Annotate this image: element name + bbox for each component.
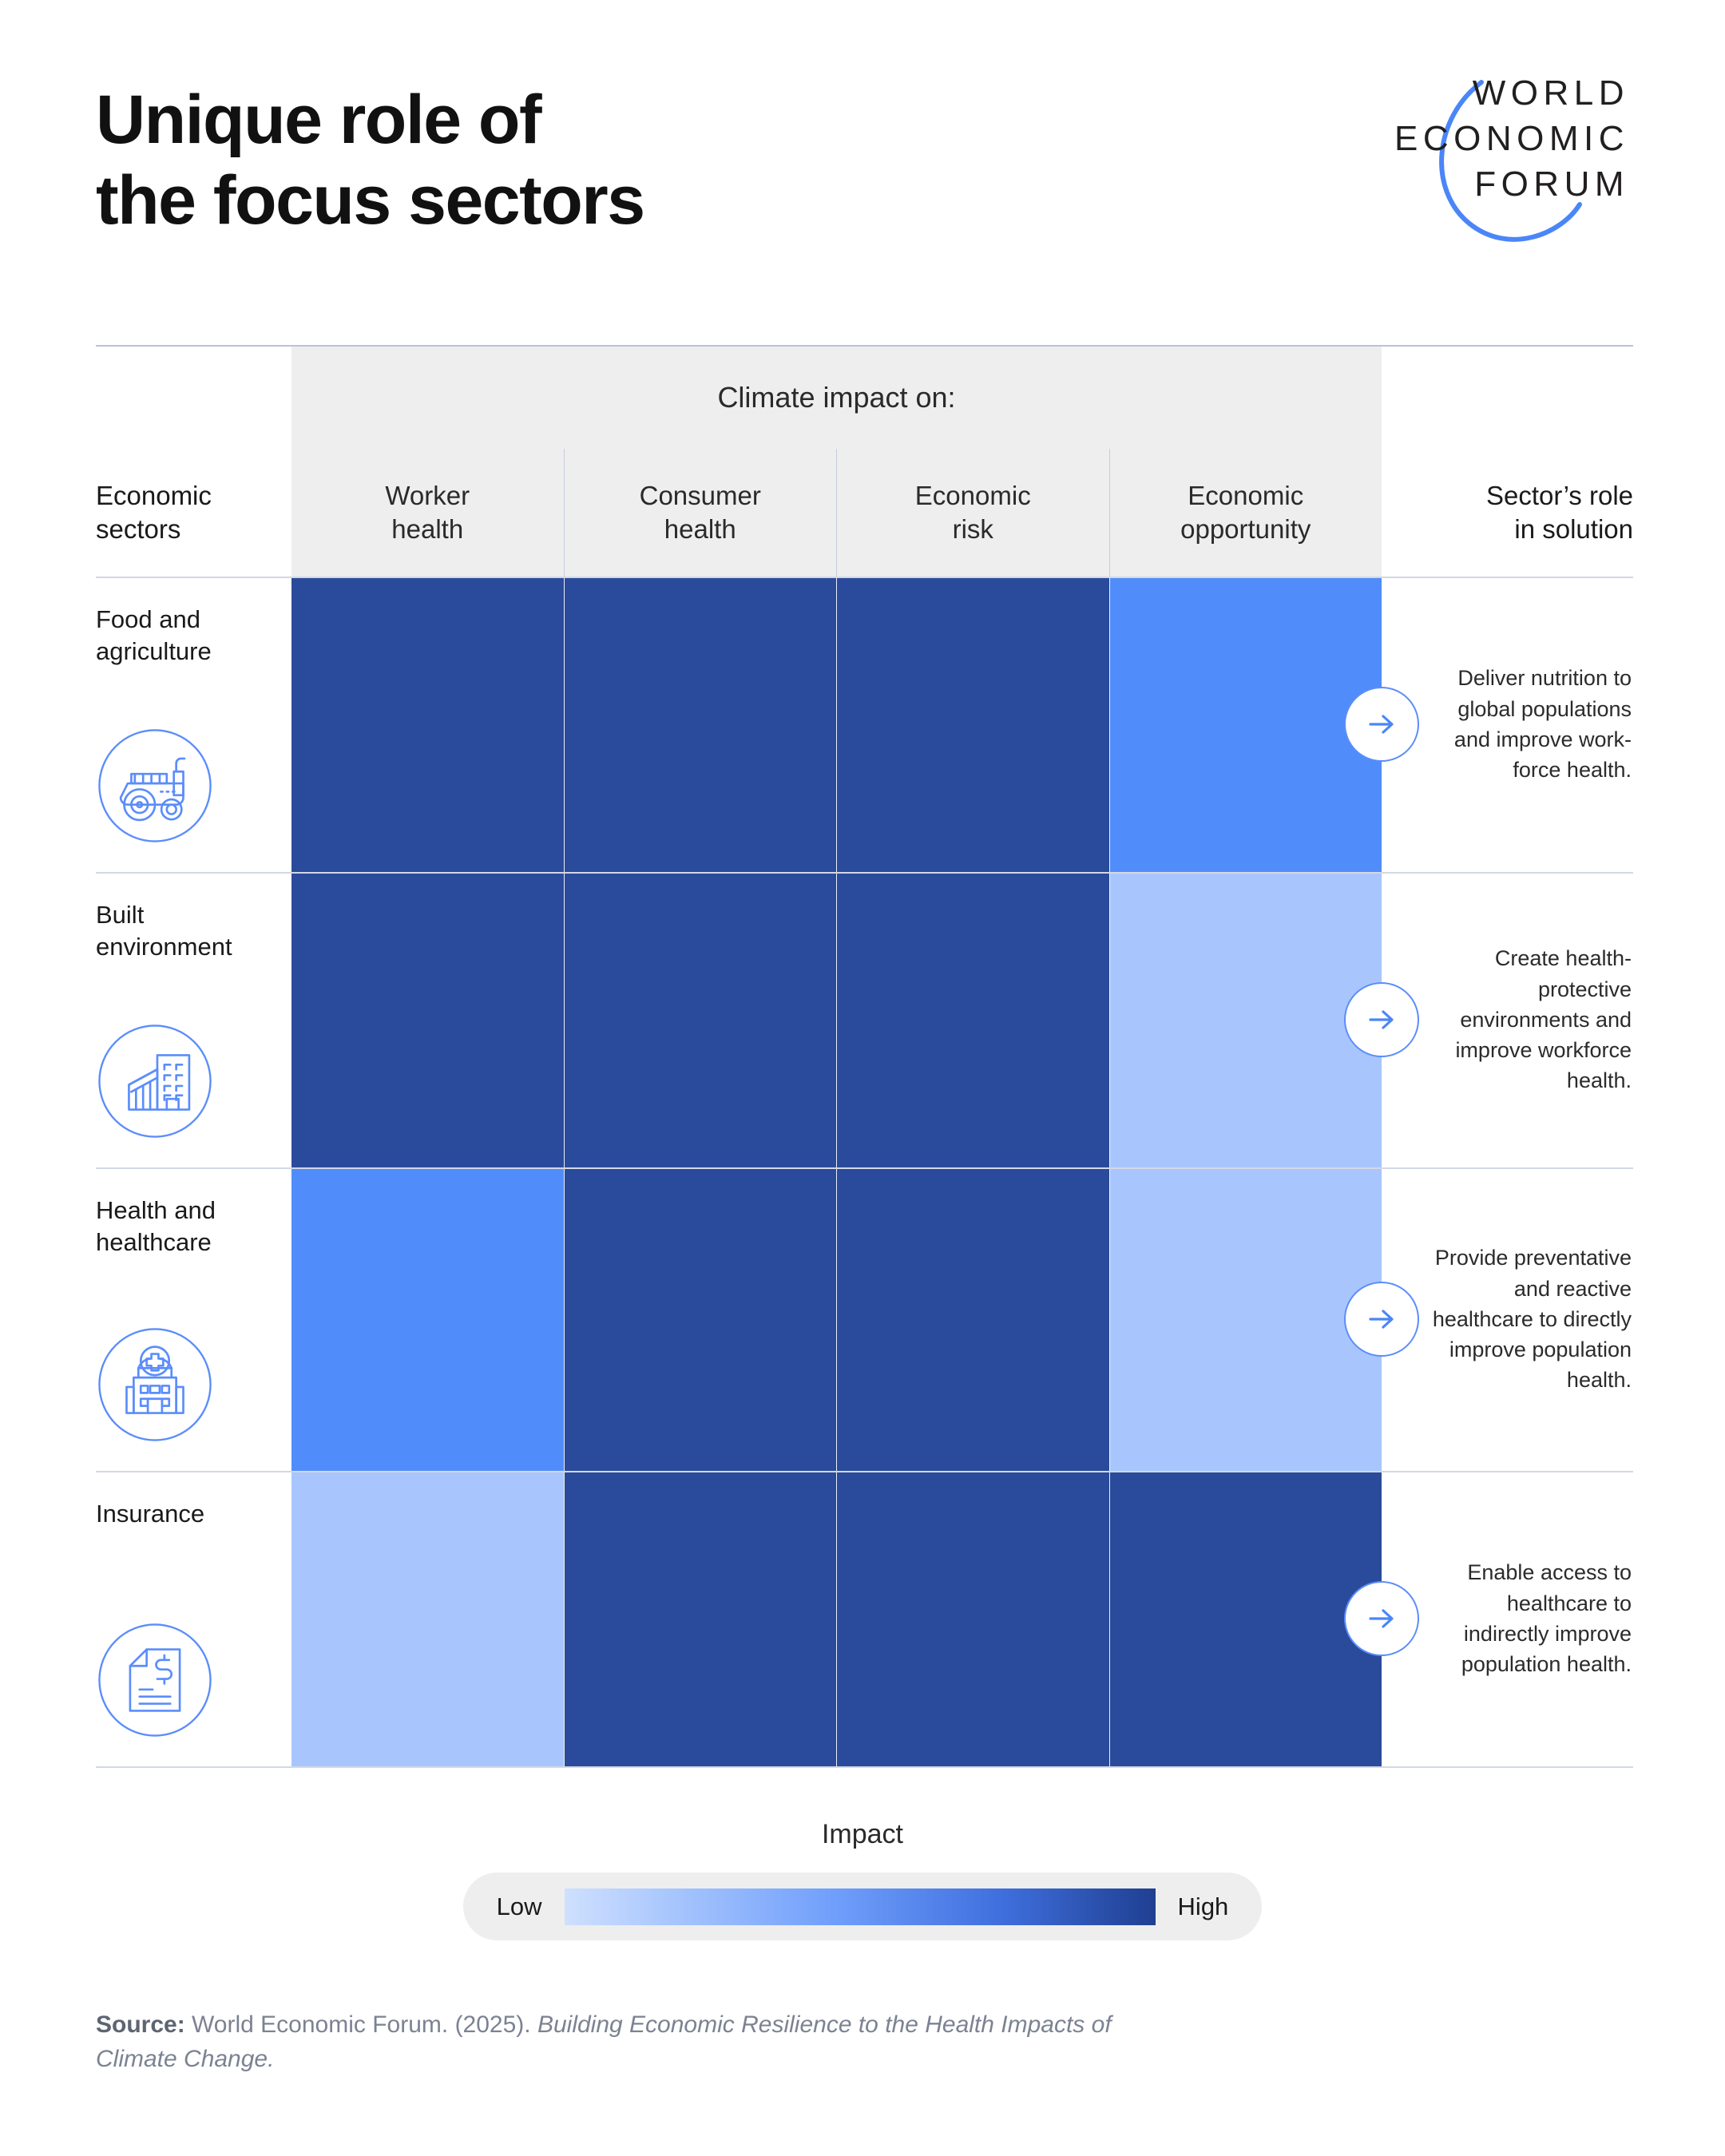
group-header-climate-impact: Climate impact on: xyxy=(291,347,1382,449)
logo-line-world: WORLD xyxy=(1394,70,1629,116)
arrow-right-icon[interactable] xyxy=(1344,982,1419,1057)
logo-line-economic: ECONOMIC xyxy=(1394,116,1629,161)
group-header-spacer-right xyxy=(1382,347,1633,449)
heatmap-cell xyxy=(1109,1167,1382,1471)
sector-cell-health-and-healthcare: Health and healthcare xyxy=(96,1167,291,1471)
heatmap-cell xyxy=(1109,1471,1382,1766)
heatmap-cell xyxy=(291,1471,564,1766)
logo-line-forum: FORUM xyxy=(1394,161,1629,207)
heatmap-cell xyxy=(291,872,564,1167)
table-row: Built environment xyxy=(96,872,1633,1167)
legend-low-label: Low xyxy=(497,1892,542,1921)
column-header-economic-sectors: Economic sectors xyxy=(96,449,291,577)
impact-legend: Low High xyxy=(463,1873,1262,1940)
role-text: Create health-protective environments an… xyxy=(1417,943,1632,1096)
table-row: Insurance xyxy=(96,1471,1633,1766)
heatmap-cell xyxy=(291,577,564,872)
table-column-header-row: Economic sectors Worker health Consumer … xyxy=(96,449,1633,577)
legend-title: Impact xyxy=(0,1819,1725,1850)
role-text: Provide preventative and reactive health… xyxy=(1417,1242,1632,1396)
sector-label: Insurance xyxy=(96,1498,272,1530)
role-cell: Enable access to healthcare to indirectl… xyxy=(1382,1471,1633,1766)
table-group-header-row: Climate impact on: xyxy=(96,347,1633,449)
heatmap-cell xyxy=(564,577,837,872)
sector-label: Food and agriculture xyxy=(96,604,272,667)
legend-high-label: High xyxy=(1178,1892,1229,1921)
impact-cells xyxy=(291,1167,1382,1471)
invoice-dollar-icon xyxy=(96,1621,214,1739)
office-building-icon xyxy=(96,1022,214,1140)
page-title: Unique role of the focus sectors xyxy=(96,80,644,240)
impact-cells xyxy=(291,1471,1382,1766)
heatmap-cell xyxy=(564,1471,837,1766)
sector-label: Built environment xyxy=(96,899,272,962)
heatmap-cell xyxy=(836,1471,1109,1766)
role-cell: Provide preventative and reactive health… xyxy=(1382,1167,1633,1471)
sector-cell-insurance: Insurance xyxy=(96,1471,291,1766)
hospital-icon xyxy=(96,1326,214,1444)
arrow-right-icon[interactable] xyxy=(1344,687,1419,762)
source-publisher: World Economic Forum. (2025). xyxy=(185,2011,537,2038)
page-header: Unique role of the focus sectors WORLD E… xyxy=(0,0,1725,319)
source-prefix: Source: xyxy=(96,2011,185,2038)
sector-label: Health and healthcare xyxy=(96,1195,272,1258)
source-note: Source: World Economic Forum. (2025). Bu… xyxy=(96,2008,1134,2076)
sector-cell-built-environment: Built environment xyxy=(96,872,291,1167)
heatmap-cell xyxy=(836,872,1109,1167)
heatmap-cell xyxy=(1109,872,1382,1167)
group-header-spacer-left xyxy=(96,347,291,449)
column-header-worker-health: Worker health xyxy=(291,449,564,577)
impact-cells xyxy=(291,872,1382,1167)
table-row: Health and healthcare xyxy=(96,1167,1633,1471)
role-text: Deliver nutrition to global populations … xyxy=(1417,663,1632,785)
tractor-icon xyxy=(96,727,214,845)
role-text: Enable access to healthcare to indirectl… xyxy=(1417,1557,1632,1679)
legend-gradient-bar xyxy=(565,1888,1156,1925)
wef-logo: WORLD ECONOMIC FORUM xyxy=(1390,70,1629,254)
logo-wordmark: WORLD ECONOMIC FORUM xyxy=(1394,70,1629,208)
table-row: Food and agriculture xyxy=(96,577,1633,872)
heatmap-cell xyxy=(564,872,837,1167)
impact-matrix-table: Climate impact on: Economic sectors Work… xyxy=(96,345,1633,1768)
role-cell: Create health-protective environments an… xyxy=(1382,872,1633,1167)
column-header-consumer-health: Consumer health xyxy=(564,449,837,577)
impact-column-headers: Worker health Consumer health Economic r… xyxy=(291,449,1382,577)
arrow-right-icon[interactable] xyxy=(1344,1581,1419,1656)
heatmap-cell xyxy=(836,577,1109,872)
arrow-right-icon[interactable] xyxy=(1344,1282,1419,1357)
column-header-sector-role: Sector’s role in solution xyxy=(1382,449,1633,577)
impact-cells xyxy=(291,577,1382,872)
heatmap-cell xyxy=(836,1167,1109,1471)
role-cell: Deliver nutrition to global populations … xyxy=(1382,577,1633,872)
column-header-economic-opportunity: Economic opportunity xyxy=(1109,449,1382,577)
heatmap-cell xyxy=(291,1167,564,1471)
heatmap-cell xyxy=(1109,577,1382,872)
table-bottom-rule xyxy=(96,1766,1633,1768)
column-header-economic-risk: Economic risk xyxy=(836,449,1109,577)
sector-cell-food-and-agriculture: Food and agriculture xyxy=(96,577,291,872)
heatmap-cell xyxy=(564,1167,837,1471)
